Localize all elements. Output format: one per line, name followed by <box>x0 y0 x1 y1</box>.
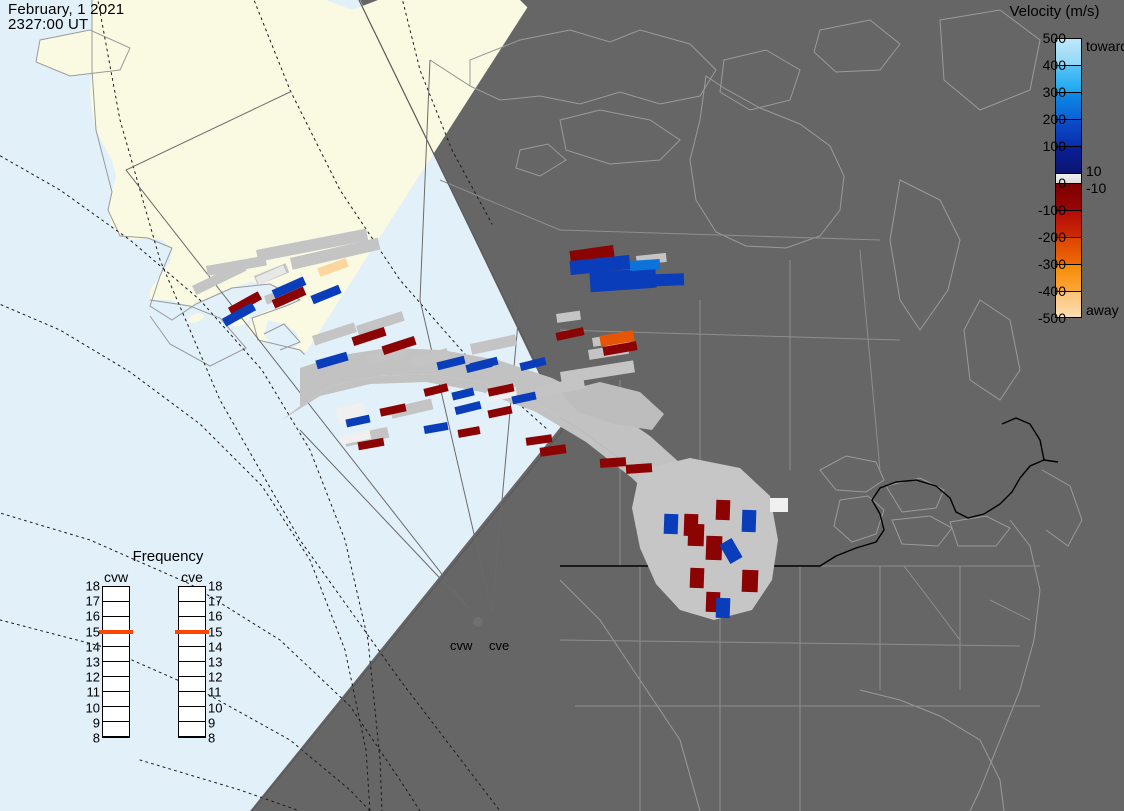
frequency-tick-cve-16: 16 <box>208 609 232 624</box>
time-label: 2327:00 UT <box>8 17 124 32</box>
velocity-cell <box>742 570 759 593</box>
frequency-cell <box>179 662 205 677</box>
frequency-tick-cvw-8: 8 <box>76 731 100 746</box>
colorbar-tick--200: -200 <box>1038 229 1066 245</box>
frequency-tick-cve-9: 9 <box>208 715 232 730</box>
frequency-cell <box>179 677 205 692</box>
velocity-cell <box>716 598 731 618</box>
frequency-tick-cvw-15: 15 <box>76 624 100 639</box>
frequency-cell <box>103 692 129 707</box>
frequency-tick-cvw-10: 10 <box>76 700 100 715</box>
frequency-legend: Frequency cvw18171615141312111098cve1817… <box>88 548 248 788</box>
frequency-cell <box>179 707 205 722</box>
colorbar-tick--100: -100 <box>1038 202 1066 218</box>
colorbar-tick-500: 500 <box>1043 30 1066 46</box>
frequency-cell <box>179 587 205 602</box>
frequency-tick-cve-15: 15 <box>208 624 232 639</box>
site-label-cvw: cvw <box>450 638 472 653</box>
velocity-cell <box>690 568 705 588</box>
frequency-marker-cvw <box>99 630 133 634</box>
frequency-cell <box>103 722 129 737</box>
frequency-tick-cve-8: 8 <box>208 731 232 746</box>
frequency-cell <box>103 647 129 662</box>
frequency-tick-cve-18: 18 <box>208 579 232 594</box>
frequency-cell <box>103 677 129 692</box>
frequency-tick-cve-13: 13 <box>208 655 232 670</box>
frequency-cell <box>103 707 129 722</box>
velocity-colorbar: Velocity (m/s) 5004003002001000-100-200-… <box>985 0 1124 340</box>
velocity-cell <box>600 457 627 468</box>
velocity-cell <box>742 510 757 532</box>
radar-map-figure: February, 1 2021 2327:00 UT Velocity (m/… <box>0 0 1124 811</box>
colorbar-tick-300: 300 <box>1043 84 1066 100</box>
velocity-cell <box>630 259 661 271</box>
frequency-tick-cve-17: 17 <box>208 594 232 609</box>
frequency-tick-cve-11: 11 <box>208 685 232 700</box>
frequency-tick-cvw-18: 18 <box>76 579 100 594</box>
velocity-cell <box>640 273 684 287</box>
frequency-column-cvw: cvw18171615141312111098 <box>96 568 136 738</box>
frequency-title: Frequency <box>88 548 248 565</box>
frequency-cell <box>103 632 129 647</box>
frequency-column-name-cvw: cvw <box>96 568 136 586</box>
radar-site-marker <box>473 617 483 627</box>
frequency-bar-cve <box>178 586 206 738</box>
velocity-cell <box>626 463 653 474</box>
velocity-cell <box>706 536 723 561</box>
colorbar-tick-400: 400 <box>1043 57 1066 73</box>
frequency-column-name-cve: cve <box>172 568 212 586</box>
colorbar-toward-label: toward <box>1086 38 1124 54</box>
frequency-tick-cvw-16: 16 <box>76 609 100 624</box>
velocity-cell <box>716 500 731 520</box>
colorbar-tick-0: 0 <box>1058 175 1066 191</box>
frequency-tick-cvw-17: 17 <box>76 594 100 609</box>
frequency-cell <box>179 647 205 662</box>
frequency-tick-cve-10: 10 <box>208 700 232 715</box>
date-label: February, 1 2021 <box>8 2 124 17</box>
velocity-cell <box>664 514 679 534</box>
frequency-tick-cvw-13: 13 <box>76 655 100 670</box>
frequency-cell <box>179 692 205 707</box>
frequency-bar-cvw <box>102 586 130 738</box>
frequency-tick-cvw-14: 14 <box>76 639 100 654</box>
colorbar-tick-100: 100 <box>1043 138 1066 154</box>
timestamp-block: February, 1 2021 2327:00 UT <box>8 2 124 32</box>
frequency-tick-cvw-11: 11 <box>76 685 100 700</box>
frequency-cell <box>179 602 205 617</box>
velocity-cell <box>688 524 705 547</box>
frequency-cell <box>179 722 205 737</box>
site-label-cve: cve <box>489 638 509 653</box>
frequency-cell <box>103 662 129 677</box>
frequency-column-cve: cve18171615141312111098 <box>172 568 212 738</box>
colorbar-title: Velocity (m/s) <box>985 3 1124 20</box>
colorbar-tick--400: -400 <box>1038 283 1066 299</box>
colorbar-away-label: away <box>1086 302 1119 318</box>
frequency-tick-cvw-9: 9 <box>76 715 100 730</box>
frequency-cell <box>179 632 205 647</box>
frequency-marker-cve <box>175 630 209 634</box>
frequency-cell <box>103 602 129 617</box>
frequency-tick-cve-12: 12 <box>208 670 232 685</box>
frequency-cell <box>103 587 129 602</box>
frequency-tick-cvw-12: 12 <box>76 670 100 685</box>
colorbar-tick--300: -300 <box>1038 256 1066 272</box>
colorbar-inner-lower-label: -10 <box>1086 180 1106 196</box>
colorbar-tick--500: -500 <box>1038 310 1066 326</box>
colorbar-inner-upper-label: 10 <box>1086 163 1102 179</box>
frequency-tick-cve-14: 14 <box>208 639 232 654</box>
colorbar-tick-200: 200 <box>1043 111 1066 127</box>
